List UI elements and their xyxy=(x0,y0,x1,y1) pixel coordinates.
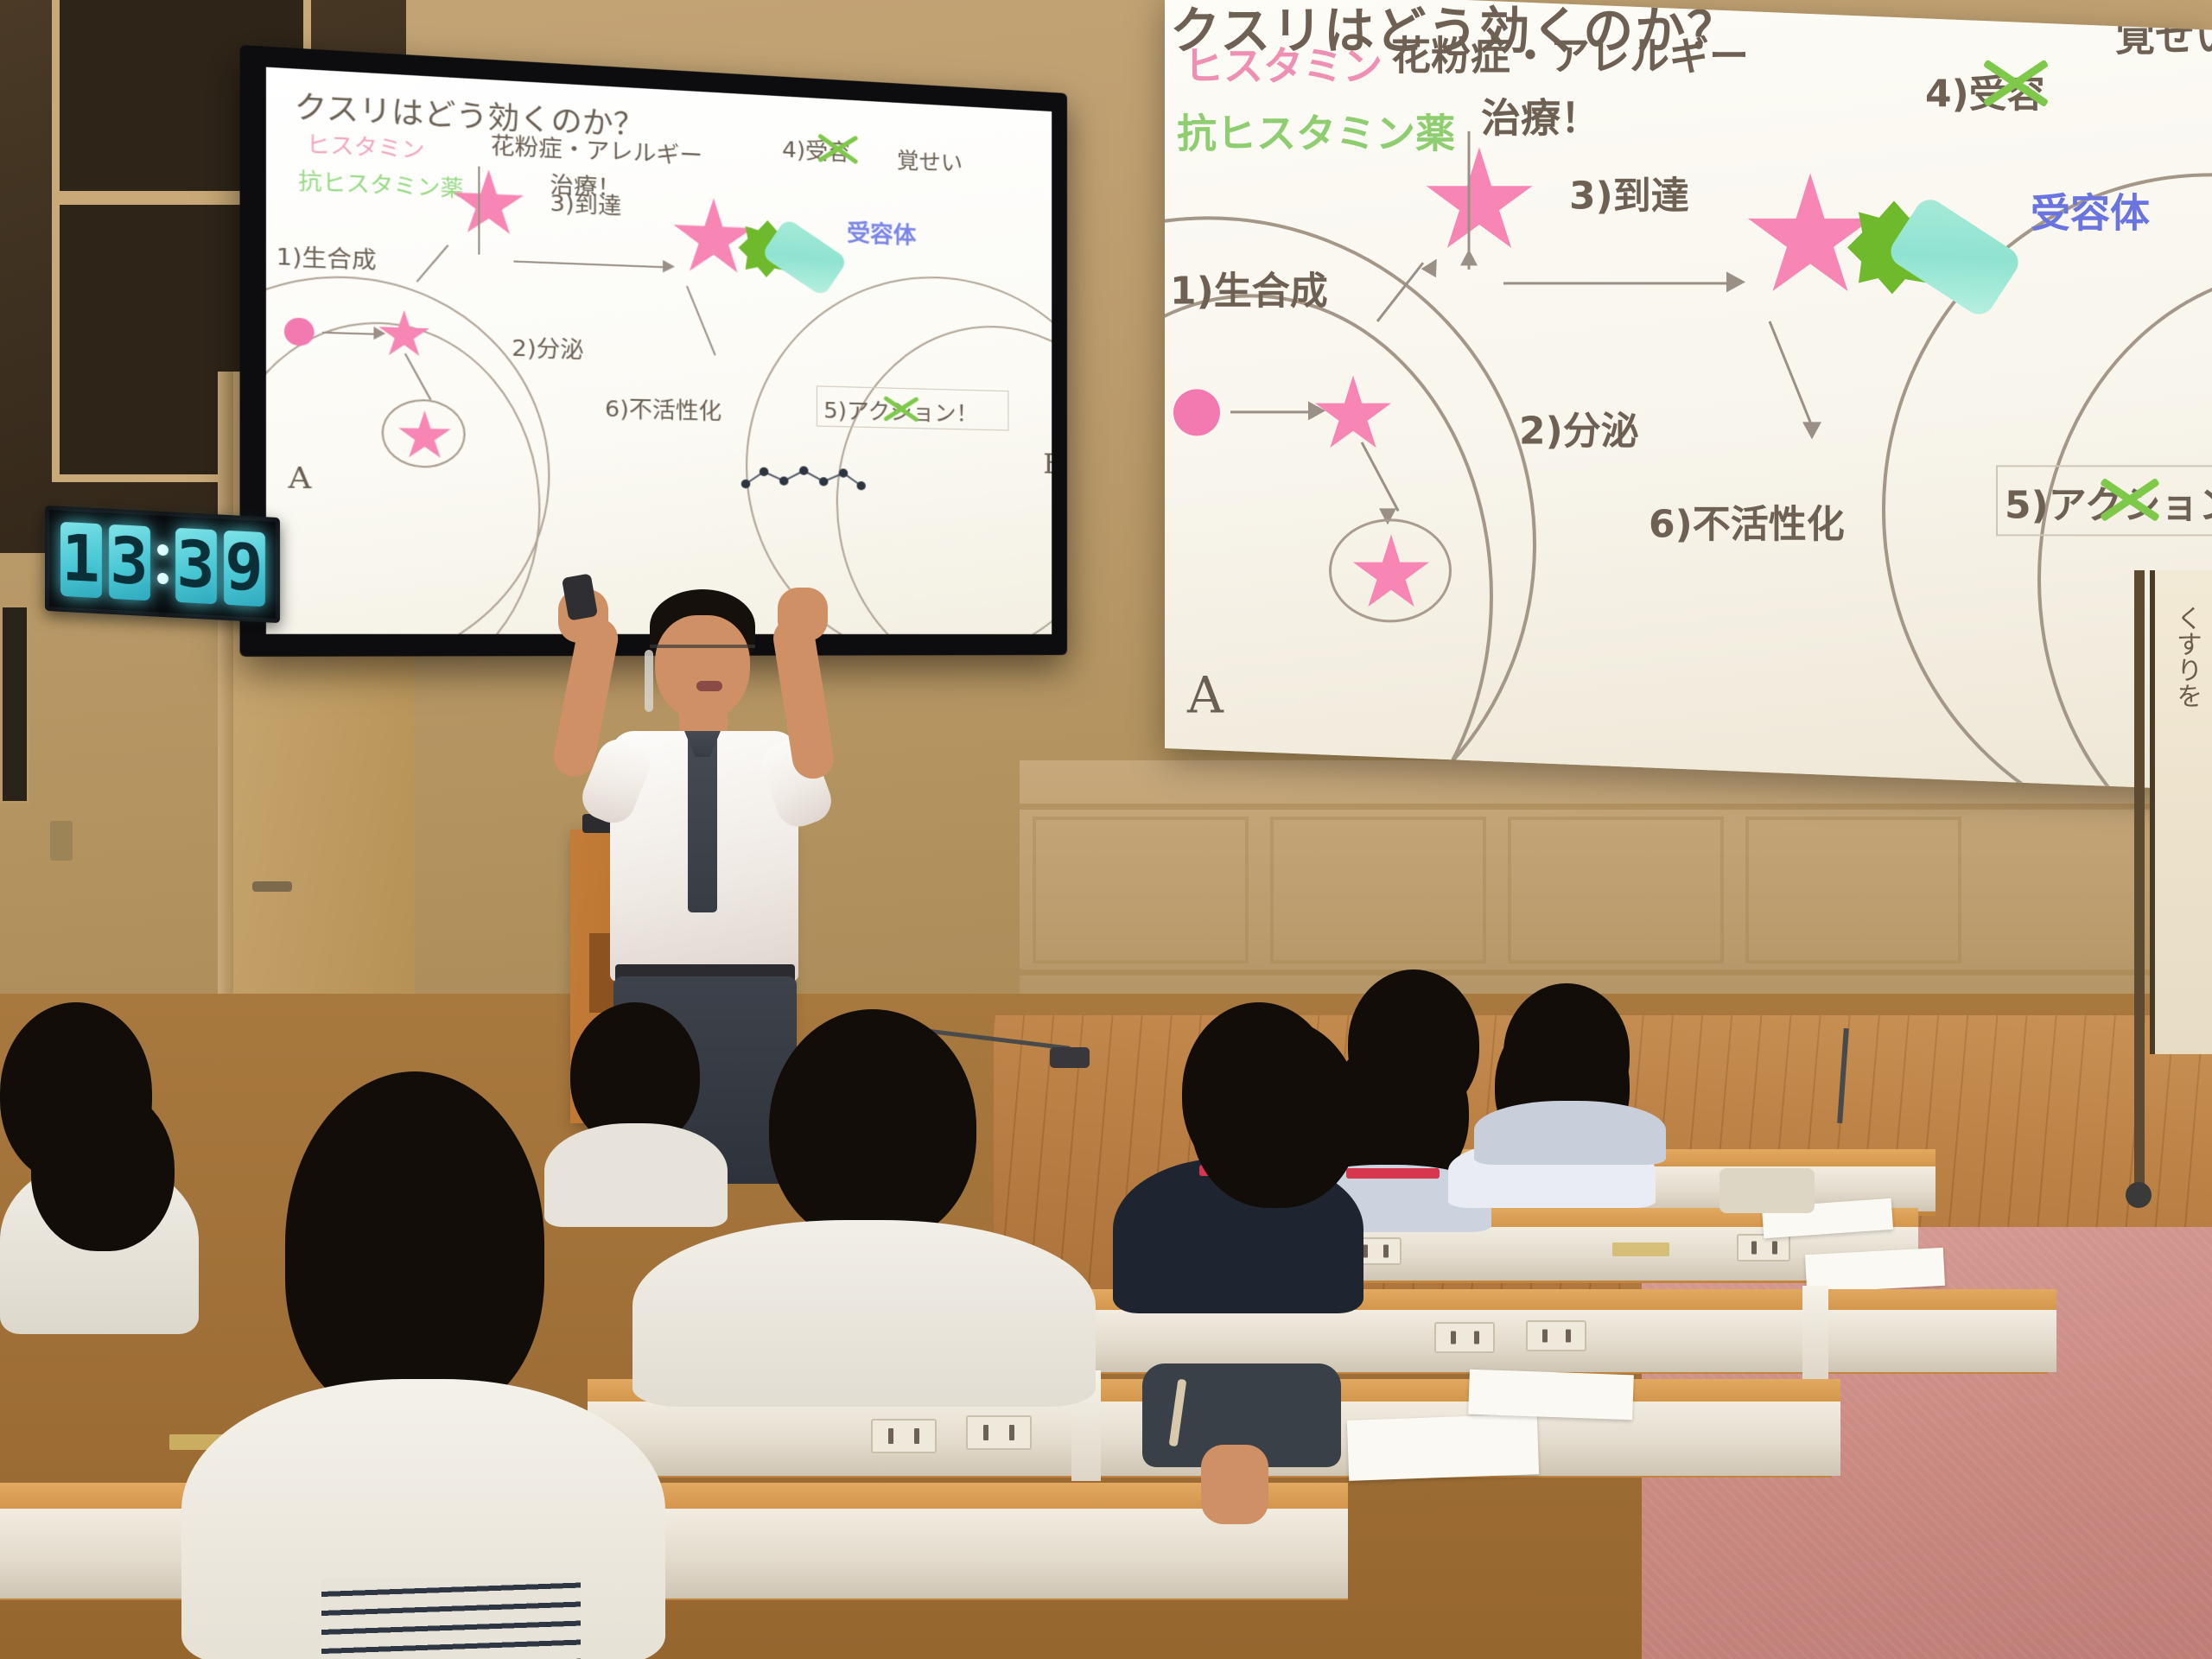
handout-paper[interactable] xyxy=(1468,1370,1634,1421)
clock-colon xyxy=(157,544,168,585)
mini-arrow-arrival xyxy=(513,260,664,268)
student-body xyxy=(1474,1101,1666,1165)
wall-speaker xyxy=(0,605,29,804)
arrow-inactivation xyxy=(1769,321,1814,428)
mini-precursor-dot xyxy=(284,317,315,346)
precursor-dot xyxy=(1173,389,1220,435)
strike-x-action xyxy=(2096,467,2164,532)
arrow-head-secretion2 xyxy=(1460,249,1478,265)
mini-step-1: 1)生合成 xyxy=(276,238,377,276)
projection-screen: クスリはどう効くのか？ ヒスタミン 抗ヒスタミン薬 花粉症・アレルギー 治療！ … xyxy=(1165,0,2212,791)
student-head xyxy=(1191,1018,1360,1208)
desk-outlet[interactable] xyxy=(1434,1322,1495,1353)
flipchart-board: くすりを xyxy=(2150,570,2212,1054)
step-label-3: 3)到達 xyxy=(1569,164,1689,219)
mini-headnote-allergy: 花粉症・アレルギー xyxy=(491,128,702,171)
mini-arrow-sec2 xyxy=(478,167,480,255)
mini-star-bound xyxy=(672,196,755,280)
mini-receptor-label: 受容体 xyxy=(847,215,916,251)
light-switch[interactable] xyxy=(50,821,73,861)
wall-panel-a xyxy=(1033,817,1249,963)
presenter-tie xyxy=(688,734,717,912)
mini-step-2: 2)分泌 xyxy=(512,330,583,365)
arrow-arrival xyxy=(1503,282,1730,284)
mini-strike-x-action xyxy=(880,389,921,429)
student-body xyxy=(544,1123,728,1227)
lecture-hall-photo: クスリはどう効くのか？ ヒスタミン 抗ヒスタミン薬 花粉症・アレルギー 治療！ … xyxy=(0,0,2212,1659)
mini-arrow-head-arrival xyxy=(663,260,675,273)
presenter-face xyxy=(655,615,750,721)
mini-legend-antihistamine: 抗ヒスタミン薬 xyxy=(298,162,463,202)
clock-hour-ones: 3 xyxy=(109,524,150,601)
wall-rail-upper xyxy=(1020,804,2212,810)
mini-headnote-stimulant: 覚せい xyxy=(897,143,963,178)
headnote-allergy: 花粉症・アレルギー xyxy=(1391,24,1749,81)
mini-cell-label-b: B xyxy=(1043,447,1052,480)
flipchart-text: くすりを xyxy=(2167,605,2205,709)
headset-mic-icon xyxy=(645,650,653,712)
mini-cell-label-a: A xyxy=(289,460,312,496)
arrow-head-arrival xyxy=(1726,271,1745,292)
strike-x-reception xyxy=(1979,50,2053,116)
presenter-mouth xyxy=(696,681,722,691)
student-head xyxy=(1348,969,1479,1118)
histamine-star-bound xyxy=(1745,173,1875,302)
arrow-synthesis xyxy=(1230,410,1310,413)
legend-histamine: ヒスタミン xyxy=(1184,35,1382,92)
clock-minute-ones: 9 xyxy=(224,531,265,607)
flipchart-leg xyxy=(2134,570,2145,1192)
glasses-icon xyxy=(650,645,755,652)
student-lanyard xyxy=(1346,1168,1440,1179)
student-head xyxy=(285,1071,544,1417)
mini-arrow-inactivation xyxy=(686,286,716,356)
desk-item-bag[interactable] xyxy=(1719,1168,1815,1213)
student-head xyxy=(31,1087,175,1251)
digital-wall-clock: 1 3 3 9 xyxy=(45,505,280,623)
desk-outlet[interactable] xyxy=(1526,1320,1586,1351)
door-handle[interactable] xyxy=(252,881,292,892)
arrow-head-inactivation xyxy=(1802,422,1821,439)
mini-step-3: 3)到達 xyxy=(550,185,621,221)
presenter-hand-right xyxy=(778,588,828,641)
monitor-display: クスリはどう効くのか？ ヒスタミン 抗ヒスタミン薬 花粉症・アレルギー 治療！ … xyxy=(266,67,1052,634)
headnote-treatment: 治療！ xyxy=(1481,86,1600,143)
wall-panel-c xyxy=(1508,817,1724,963)
arrow-head-secretion1 xyxy=(1421,255,1445,277)
wall-rail-lower xyxy=(1020,969,2212,976)
histamine-star-2 xyxy=(1424,147,1535,257)
receptor-label: 受容体 xyxy=(2031,181,2150,238)
student-striped-shirt xyxy=(321,1578,581,1659)
student-body xyxy=(632,1220,1096,1407)
step-label-1: 1)生合成 xyxy=(1170,259,1328,315)
mini-strike-x-reception xyxy=(815,128,861,169)
flipchart-caster xyxy=(2126,1182,2152,1208)
legend-antihistamine: 抗ヒスタミン薬 xyxy=(1177,102,1455,159)
presenter-remote[interactable] xyxy=(562,573,598,620)
wall-panel-b xyxy=(1270,817,1486,963)
student-head xyxy=(769,1009,976,1244)
step-label-6: 6)不活性化 xyxy=(1649,493,1845,548)
step-label-2: 2)分泌 xyxy=(1519,399,1639,454)
desk-outlet[interactable] xyxy=(966,1415,1032,1450)
floor-cable-box xyxy=(1050,1047,1090,1068)
clock-hour-tens: 1 xyxy=(60,522,102,599)
handout-paper[interactable] xyxy=(1347,1414,1539,1481)
wall-panel-d xyxy=(1745,817,1961,963)
student-hand xyxy=(1201,1445,1268,1524)
desk-divider xyxy=(1802,1286,1828,1382)
desk-outlet[interactable] xyxy=(871,1419,937,1453)
mini-legend-histamine: ヒスタミン xyxy=(306,125,424,163)
mini-step-6: 6)不活性化 xyxy=(605,391,721,427)
molecule-diagram xyxy=(733,457,877,512)
cell-label-a: A xyxy=(1187,665,1224,724)
clock-minute-tens: 3 xyxy=(175,528,217,605)
mini-arrow-sec1 xyxy=(416,245,449,283)
wall-monitor: クスリはどう効くのか？ ヒスタミン 抗ヒスタミン薬 花粉症・アレルギー 治療！ … xyxy=(240,45,1067,657)
